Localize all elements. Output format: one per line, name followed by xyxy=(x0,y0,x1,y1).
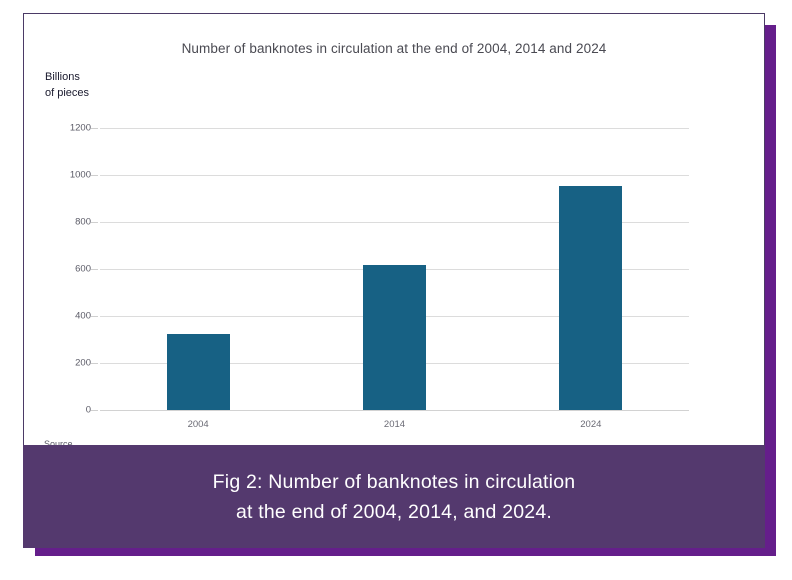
y-tick-mark xyxy=(91,175,98,176)
y-axis-label-line-1: Billions xyxy=(45,69,89,85)
bar-2004 xyxy=(167,334,230,410)
y-tick-label: 0 xyxy=(86,405,91,416)
accent-bar-right xyxy=(765,25,776,556)
y-tick-label: 200 xyxy=(75,358,91,369)
gridline xyxy=(100,175,689,176)
y-tick-mark xyxy=(91,128,98,129)
y-tick-mark xyxy=(91,316,98,317)
y-tick-label: 1000 xyxy=(70,170,91,181)
y-tick-label: 800 xyxy=(75,217,91,228)
bar-2024 xyxy=(559,186,622,410)
plot-area: 020040060080010001200200420142024 xyxy=(79,114,689,414)
y-tick-label: 1200 xyxy=(70,123,91,134)
y-tick-mark xyxy=(91,222,98,223)
caption-panel: Fig 2: Number of banknotes in circulatio… xyxy=(23,445,765,548)
gridline xyxy=(100,410,689,411)
y-tick-mark xyxy=(91,269,98,270)
y-axis-label: Billions of pieces xyxy=(45,69,89,101)
x-tick-label-2024: 2024 xyxy=(580,419,601,430)
caption-line-1: Fig 2: Number of banknotes in circulatio… xyxy=(213,467,576,497)
y-axis-label-line-2: of pieces xyxy=(45,85,89,101)
x-tick-label-2004: 2004 xyxy=(188,419,209,430)
caption-line-2: at the end of 2004, 2014, and 2024. xyxy=(213,497,576,527)
y-tick-label: 600 xyxy=(75,264,91,275)
figure-stage: Number of banknotes in circulation at th… xyxy=(0,0,792,580)
chart-title: Number of banknotes in circulation at th… xyxy=(24,41,764,56)
chart-card: Number of banknotes in circulation at th… xyxy=(23,13,765,447)
y-tick-label: 400 xyxy=(75,311,91,322)
bar-2014 xyxy=(363,265,426,410)
y-tick-mark xyxy=(91,410,98,411)
x-tick-label-2014: 2014 xyxy=(384,419,405,430)
gridline xyxy=(100,128,689,129)
figure-caption: Fig 2: Number of banknotes in circulatio… xyxy=(213,467,576,527)
y-tick-mark xyxy=(91,363,98,364)
